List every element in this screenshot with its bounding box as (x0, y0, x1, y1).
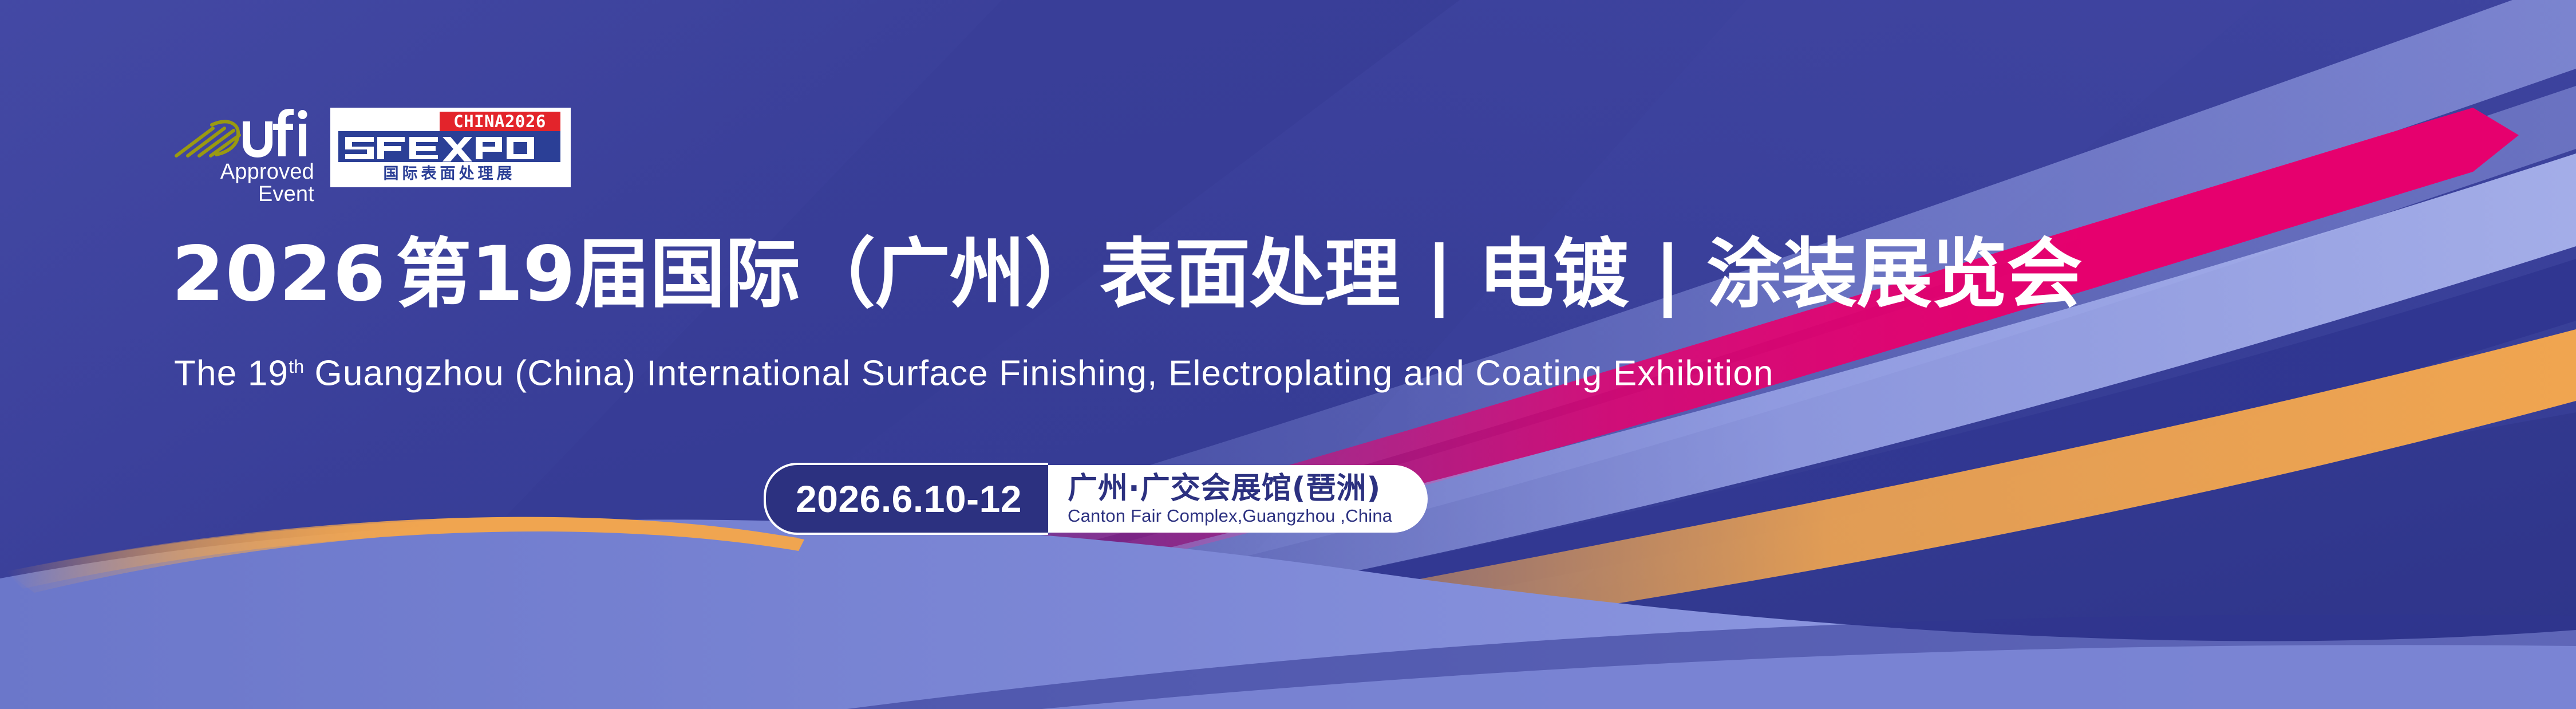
registered-mark: ® (552, 131, 560, 141)
venue-name-en: Canton Fair Complex,Guangzhou ,China (1068, 506, 1392, 526)
sf-expo-logo: CHINA2026 (330, 108, 571, 187)
event-info-pill: 2026.6.10-12 广州·广交会展馆(琶洲) Canton Fair Co… (766, 465, 1428, 533)
event-date-badge: 2026.6.10-12 (764, 463, 1048, 535)
ufi-swoosh-icon (172, 108, 318, 160)
page-subtitle: The 19th Guangzhou (China) International… (174, 345, 1774, 396)
expo-banner: Approved Event CHINA2026 (0, 0, 2576, 709)
subtitle-prefix: The 19 (174, 354, 289, 393)
logo-row: Approved Event CHINA2026 (172, 108, 571, 196)
ufi-logo: Approved Event (172, 108, 318, 196)
china-year-text: CHINA2026 (453, 112, 546, 131)
ufi-event-label: Event (258, 183, 314, 206)
headline-year: 2026 (172, 230, 386, 318)
page-title: 2026第19届国际（广州）表面处理 | 电镀 | 涂装展览会 (172, 231, 2081, 317)
sf-expo-logo-art: CHINA2026 (335, 112, 566, 184)
sf-expo-chinese-subtitle: 国际表面处理展 (384, 165, 516, 183)
ufi-approved-label: Approved (220, 160, 314, 183)
subtitle-rest: Guangzhou (China) International Surface … (304, 354, 1774, 393)
event-venue-block: 广州·广交会展馆(琶洲) Canton Fair Complex,Guangzh… (1048, 465, 1428, 533)
subtitle-ordinal: th (289, 356, 304, 377)
venue-name-cn: 广州·广交会展馆(琶洲) (1068, 472, 1392, 505)
headline-text: 第19届国际（广州）表面处理 | 电镀 | 涂装展览会 (396, 230, 2081, 318)
